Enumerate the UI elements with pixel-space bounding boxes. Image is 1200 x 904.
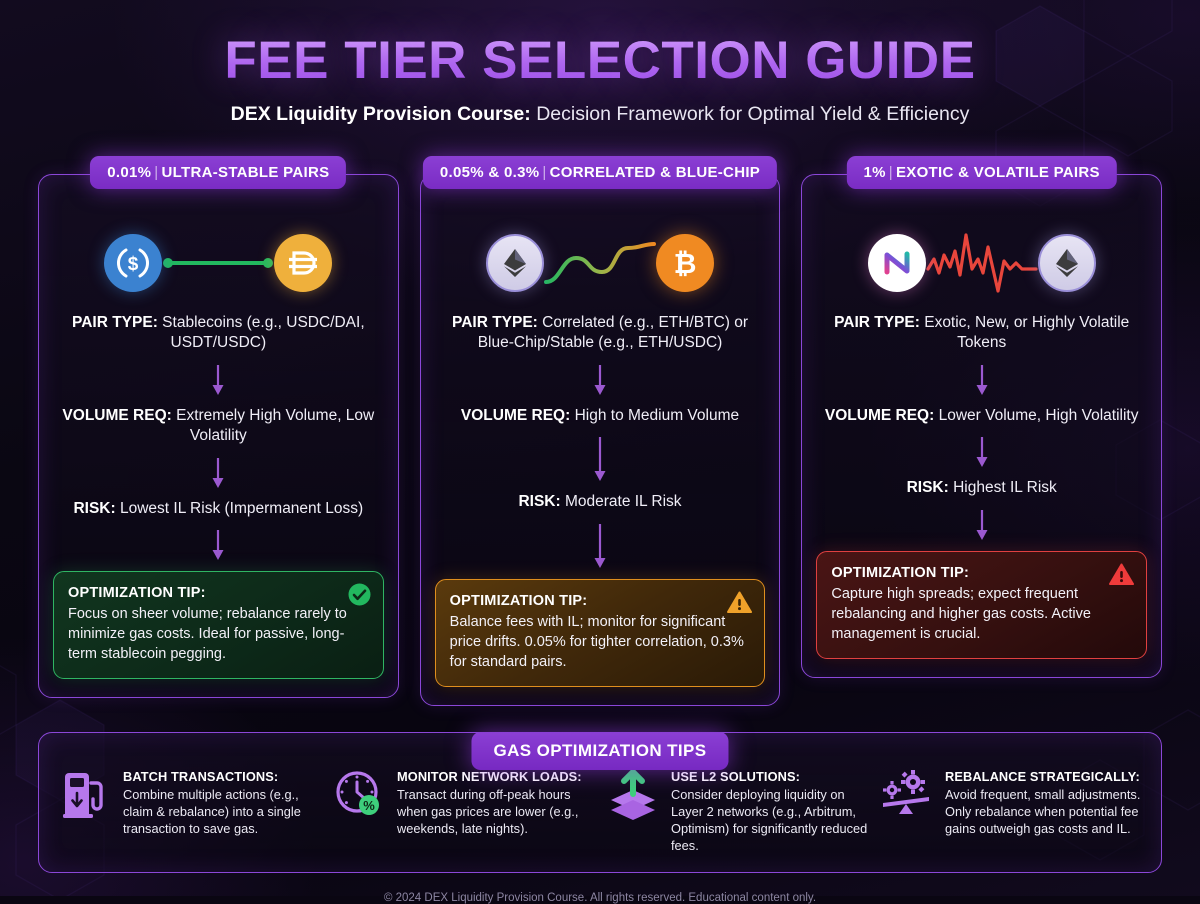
tier-flow-correlated: PAIR TYPE: Correlated (e.g., ETH/BTC) or…	[435, 313, 766, 579]
tip-title: OPTIMIZATION TIP:	[450, 593, 751, 609]
layers-up-arrow-icon	[605, 766, 661, 822]
page-title: FEE TIER SELECTION GUIDE	[0, 30, 1200, 91]
down-arrow-icon	[592, 522, 608, 570]
gas-tip-text: MONITOR NETWORK LOADS:Transact during of…	[397, 766, 595, 837]
gas-tip-text: REBALANCE STRATEGICALLY:Avoid frequent, …	[945, 766, 1143, 837]
svg-text:%: %	[363, 798, 375, 813]
gas-tip-body: Transact during off-peak hours when gas …	[397, 787, 578, 836]
down-arrow-icon	[974, 435, 990, 469]
tip-title: OPTIMIZATION TIP:	[68, 585, 369, 601]
tier-badge-name: CORRELATED & BLUE-CHIP	[550, 164, 760, 181]
bitcoin-coin-icon: ₿	[656, 234, 714, 292]
risk-row: RISK: Lowest IL Risk (Impermanent Loss)	[53, 499, 384, 519]
gas-tip-text: BATCH TRANSACTIONS:Combine multiple acti…	[123, 766, 321, 837]
ethereum-coin-icon	[1038, 234, 1096, 292]
gas-tip-title: USE L2 SOLUTIONS:	[671, 768, 869, 785]
warning-triangle-icon	[727, 591, 752, 614]
risk-row: RISK: Highest IL Risk	[816, 478, 1147, 498]
volume-req-row: VOLUME REQ: Lower Volume, High Volatilit…	[816, 406, 1147, 426]
fee-tier-column-exotic: 1%|EXOTIC & VOLATILE PAIRS	[801, 156, 1162, 706]
svg-text:$: $	[128, 254, 139, 275]
down-arrow-icon	[210, 528, 226, 562]
pair-type-value: Exotic, New, or Highly Volatile Tokens	[920, 314, 1129, 351]
volume-req-row: VOLUME REQ: Extremely High Volume, Low V…	[53, 406, 384, 447]
gas-tip-rebalance-strategically: REBALANCE STRATEGICALLY:Avoid frequent, …	[877, 766, 1145, 854]
tier-badge-percent: 0.01%	[107, 164, 151, 181]
gas-tip-text: USE L2 SOLUTIONS:Consider deploying liqu…	[671, 766, 869, 854]
gas-pump-icon	[57, 766, 113, 822]
volume-req-label: VOLUME REQ:	[461, 407, 570, 424]
pair-type-label: PAIR TYPE:	[452, 314, 538, 331]
tip-title: OPTIMIZATION TIP:	[831, 565, 1132, 581]
check-circle-icon	[348, 583, 371, 606]
footer-copyright: © 2024 DEX Liquidity Provision Course. A…	[0, 892, 1200, 904]
balance-scale-gears-icon	[879, 766, 935, 822]
pair-illustration-eth-btc: ₿	[435, 227, 766, 299]
down-arrow-icon	[974, 508, 990, 542]
risk-value: Highest IL Risk	[949, 479, 1057, 496]
gas-tip-body: Consider deploying liquidity on Layer 2 …	[671, 787, 867, 853]
risk-label: RISK:	[73, 500, 115, 517]
ethereum-coin-icon	[486, 234, 544, 292]
tier-card-exotic: PAIR TYPE: Exotic, New, or Highly Volati…	[801, 174, 1162, 678]
pair-type-value: Stablecoins (e.g., USDC/DAI, USDT/USDC)	[158, 314, 365, 351]
pair-type-row: PAIR TYPE: Stablecoins (e.g., USDC/DAI, …	[53, 313, 384, 354]
tier-card-ultra-stable: $ PAIR TYPE: Stab	[38, 174, 399, 698]
subtitle-description: Decision Framework for Optimal Yield & E…	[531, 103, 970, 125]
gas-tip-title: REBALANCE STRATEGICALLY:	[945, 768, 1143, 785]
gas-tip-use-l2-solutions: USE L2 SOLUTIONS:Consider deploying liqu…	[603, 766, 871, 854]
down-arrow-icon	[210, 363, 226, 397]
volume-req-value: Lower Volume, High Volatility	[934, 407, 1138, 424]
subtitle-course-name: DEX Liquidity Provision Course:	[231, 103, 531, 125]
connector-red-volatility-line	[926, 229, 1038, 297]
risk-label: RISK:	[907, 479, 949, 496]
tip-body: Balance fees with IL; monitor for signif…	[450, 612, 751, 672]
tip-body: Capture high spreads; expect frequent re…	[831, 584, 1132, 644]
tip-body: Focus on sheer volume; rebalance rarely …	[68, 604, 369, 664]
volume-req-row: VOLUME REQ: High to Medium Volume	[435, 406, 766, 426]
volume-req-value: Extremely High Volume, Low Volatility	[172, 407, 374, 444]
connector-straight-green-line	[162, 253, 274, 273]
dai-coin-icon	[274, 234, 332, 292]
pair-type-row: PAIR TYPE: Correlated (e.g., ETH/BTC) or…	[435, 313, 766, 354]
gas-optimization-section: GAS OPTIMIZATION TIPS BATCH TRANSACTIONS…	[38, 732, 1162, 873]
down-arrow-icon	[210, 456, 226, 490]
down-arrow-icon	[592, 435, 608, 483]
gas-tip-body: Avoid frequent, small adjustments. Only …	[945, 787, 1140, 836]
svg-text:₿: ₿	[674, 248, 697, 279]
clock-percent-icon: %	[331, 766, 387, 822]
gas-tip-title: MONITOR NETWORK LOADS:	[397, 768, 595, 785]
tier-flow-exotic: PAIR TYPE: Exotic, New, or Highly Volati…	[816, 313, 1147, 551]
pair-illustration-usdc-dai: $	[53, 227, 384, 299]
tier-badge-percent: 1%	[864, 164, 886, 181]
volume-req-label: VOLUME REQ:	[825, 407, 934, 424]
risk-value: Moderate IL Risk	[561, 493, 682, 510]
tier-badge-percent: 0.05% & 0.3%	[440, 164, 540, 181]
tier-flow-ultra-stable: PAIR TYPE: Stablecoins (e.g., USDC/DAI, …	[53, 313, 384, 571]
tier-badge-separator: |	[151, 164, 161, 181]
risk-row: RISK: Moderate IL Risk	[435, 492, 766, 512]
gas-tip-monitor-network-loads: % MONITOR NETWORK LOADS:Transact during …	[329, 766, 597, 854]
gas-tip-body: Combine multiple actions (e.g., claim & …	[123, 787, 301, 836]
tier-badge-ultra-stable[interactable]: 0.01%|ULTRA-STABLE PAIRS	[90, 156, 346, 189]
tier-card-correlated: ₿ PAIR TYPE: Correlated (e.g., ETH/BTC) …	[420, 174, 781, 706]
pair-type-label: PAIR TYPE:	[72, 314, 158, 331]
pair-type-row: PAIR TYPE: Exotic, New, or Highly Volati…	[816, 313, 1147, 354]
optimization-tip-exotic: OPTIMIZATION TIP: Capture high spreads; …	[816, 551, 1147, 659]
risk-value: Lowest IL Risk (Impermanent Loss)	[116, 500, 364, 517]
volume-req-label: VOLUME REQ:	[62, 407, 171, 424]
usdc-coin-icon: $	[104, 234, 162, 292]
gas-tip-batch-transactions: BATCH TRANSACTIONS:Combine multiple acti…	[55, 766, 323, 854]
tier-badge-name: ULTRA-STABLE PAIRS	[162, 164, 330, 181]
alert-triangle-icon	[1109, 563, 1134, 586]
fee-tier-column-correlated: 0.05% & 0.3%|CORRELATED & BLUE-CHIP	[420, 156, 781, 706]
tier-badge-exotic[interactable]: 1%|EXOTIC & VOLATILE PAIRS	[847, 156, 1117, 189]
new-token-icon	[868, 234, 926, 292]
pair-illustration-exotic-eth	[816, 227, 1147, 299]
risk-label: RISK:	[518, 493, 560, 510]
volume-req-value: High to Medium Volume	[570, 407, 739, 424]
connector-wavy-gradient-line	[544, 232, 656, 294]
gas-tip-title: BATCH TRANSACTIONS:	[123, 768, 321, 785]
down-arrow-icon	[974, 363, 990, 397]
fee-tier-columns: 0.01%|ULTRA-STABLE PAIRS $	[0, 156, 1200, 706]
pair-type-label: PAIR TYPE:	[834, 314, 920, 331]
optimization-tip-ultra-stable: OPTIMIZATION TIP: Focus on sheer volume;…	[53, 571, 384, 679]
fee-tier-column-ultra-stable: 0.01%|ULTRA-STABLE PAIRS $	[38, 156, 399, 706]
down-arrow-icon	[592, 363, 608, 397]
tier-badge-correlated[interactable]: 0.05% & 0.3%|CORRELATED & BLUE-CHIP	[423, 156, 777, 189]
page-header: FEE TIER SELECTION GUIDE DEX Liquidity P…	[0, 0, 1200, 126]
gas-section-badge[interactable]: GAS OPTIMIZATION TIPS	[471, 732, 728, 770]
tier-badge-separator: |	[539, 164, 549, 181]
page-subtitle: DEX Liquidity Provision Course: Decision…	[0, 103, 1200, 126]
optimization-tip-correlated: OPTIMIZATION TIP: Balance fees with IL; …	[435, 579, 766, 687]
tier-badge-name: EXOTIC & VOLATILE PAIRS	[896, 164, 1100, 181]
tier-badge-separator: |	[886, 164, 896, 181]
